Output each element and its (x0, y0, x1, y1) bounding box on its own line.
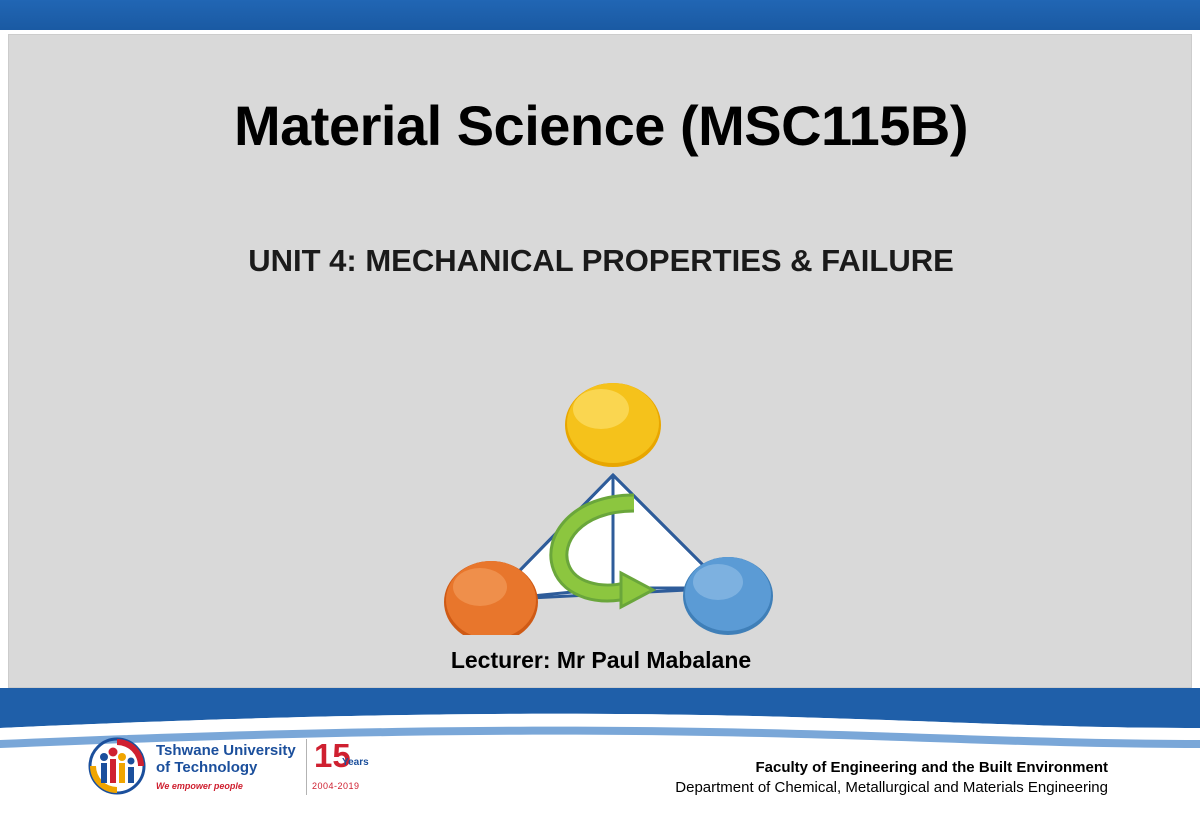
institution-logo-block: Tshwane University of Technology We empo… (88, 735, 388, 807)
tut-tagline: We empower people (156, 781, 296, 791)
footer-department: Department of Chemical, Metallurgical an… (675, 778, 1108, 798)
slide-canvas: Material Science (MSC115B) UNIT 4: MECHA… (0, 0, 1200, 831)
lecturer-line: Lecturer: Mr Paul Mabalane (9, 647, 1193, 674)
tut-logo-icon (88, 737, 146, 795)
top-blue-bar (0, 0, 1200, 30)
anniversary-years-label: Years (342, 757, 369, 768)
footer-faculty: Faculty of Engineering and the Built Env… (675, 758, 1108, 778)
tut-wordmark: Tshwane University of Technology We empo… (156, 743, 296, 791)
tut-logo-svg (88, 737, 146, 795)
diagram-svg (401, 345, 801, 635)
tut-name-line1: Tshwane University (156, 743, 296, 760)
tut-name-line2: of Technology (156, 760, 296, 777)
slide-content-panel: Material Science (MSC115B) UNIT 4: MECHA… (8, 34, 1192, 688)
anniversary-dates: 2004-2019 (312, 781, 360, 791)
materials-tetrahedron-diagram (401, 345, 801, 635)
footer-text-block: Faculty of Engineering and the Built Env… (675, 758, 1108, 799)
anniversary-divider (306, 739, 307, 795)
top-blue-bar-gradient (0, 0, 1200, 30)
page-title: Material Science (MSC115B) (9, 93, 1193, 158)
node-sphere-top (565, 383, 661, 467)
anniversary-badge: 15 Years 2004-2019 (306, 739, 392, 799)
unit-subtitle: UNIT 4: MECHANICAL PROPERTIES & FAILURE (9, 243, 1193, 279)
node-sphere-right (683, 557, 773, 635)
